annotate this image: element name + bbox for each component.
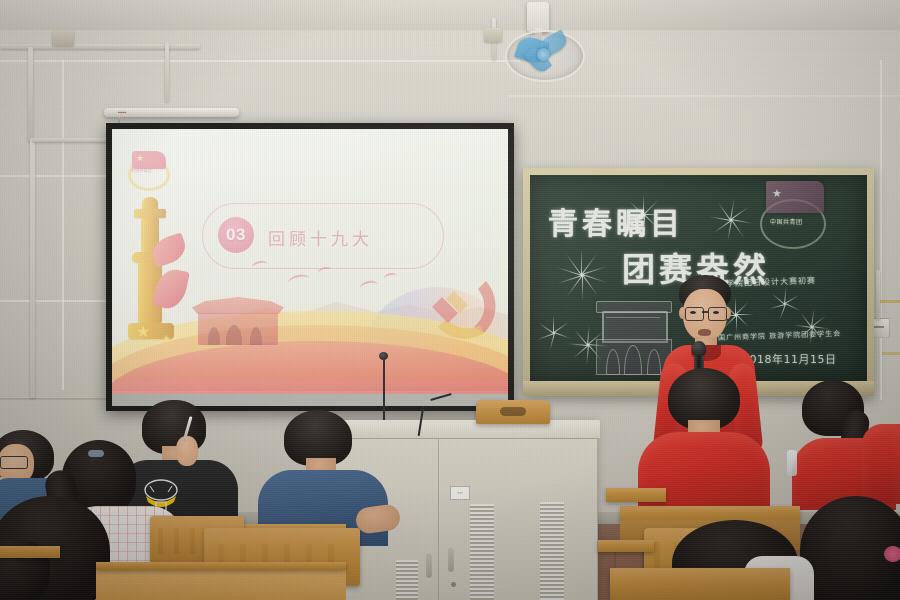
chair-slat [174, 528, 179, 554]
podium-handle-right[interactable] [448, 546, 454, 572]
chair-slat [190, 528, 195, 554]
wall-seam [62, 60, 64, 390]
presenter-eye [713, 311, 719, 314]
presenter-mouth [698, 329, 711, 336]
chalk-window-row [606, 317, 660, 318]
wall-seam [0, 300, 110, 302]
conduit-pipe [28, 47, 33, 142]
team-member-red-right [862, 424, 900, 504]
chalk-emblem-star: ★ [772, 187, 782, 200]
podium-lock[interactable] [451, 582, 456, 587]
projection-screen-frame: ★ ★ ★ 中国共青团 [106, 123, 514, 411]
conduit-pipe [165, 42, 169, 102]
classroom-photo: ▪▪▪▪ [0, 0, 900, 600]
ceiling-fan [495, 2, 595, 80]
hair-tie [88, 450, 104, 457]
handheld-mic-head [692, 341, 706, 356]
fan-hub [537, 48, 550, 61]
chalk-emblem-text: 中国共青团 [770, 217, 803, 226]
presenter-glasses-right-lens [708, 307, 727, 321]
conduit-pipe [876, 270, 880, 320]
student-glasses [0, 456, 28, 469]
wall-trim-strip [882, 352, 900, 355]
pink-hair-tie [884, 546, 900, 562]
chalk-firework [792, 307, 832, 347]
chair-handle-cutout [500, 407, 526, 416]
conduit-pipe [30, 138, 35, 398]
outlet-slot [874, 326, 884, 328]
podium-vent [470, 504, 494, 600]
wooden-chair-back[interactable] [476, 400, 550, 424]
chalk-firework [554, 247, 610, 303]
wall-seam [880, 60, 882, 400]
water-bottle[interactable] [787, 450, 797, 476]
conduit-junction-box [52, 30, 74, 46]
chair-slat [158, 528, 163, 554]
chalk-youth-league-emblem: ★ 中国共青团 [754, 177, 832, 249]
student-foreground-right [800, 496, 900, 600]
podium-handle-left[interactable] [426, 552, 432, 578]
bench-armrest-left [0, 546, 60, 558]
presenter-eye [690, 311, 696, 314]
roller-brand-logo: ▪▪▪▪ [118, 110, 126, 116]
desk-right-2 [606, 488, 666, 502]
desk-front-right [610, 568, 790, 600]
desk-front-left [96, 566, 346, 600]
podium-vent [396, 560, 418, 600]
wall-seam [508, 95, 900, 97]
projected-slide: ★ ★ ★ 中国共青团 [112, 129, 508, 394]
wall-seam [0, 60, 520, 62]
podium-door-right[interactable] [438, 438, 598, 600]
wall-trim-strip [880, 300, 900, 303]
presenter-glasses-bridge [702, 311, 708, 313]
blackboard-headline-line1: 青春瞩目 [548, 199, 684, 243]
slide-light-wash [112, 129, 508, 394]
desk-front-left-edge [96, 562, 346, 570]
conduit-pipe [32, 138, 110, 142]
chalk-firework [708, 197, 754, 243]
presenter-glasses-left-lens [685, 307, 704, 321]
podium-asset-label: ▭▭ [450, 486, 470, 500]
podium-vent [540, 502, 564, 600]
projection-screen-roller[interactable]: ▪▪▪▪ [104, 108, 239, 117]
bench-armrest-right [598, 540, 654, 552]
wall-seam [0, 175, 120, 177]
